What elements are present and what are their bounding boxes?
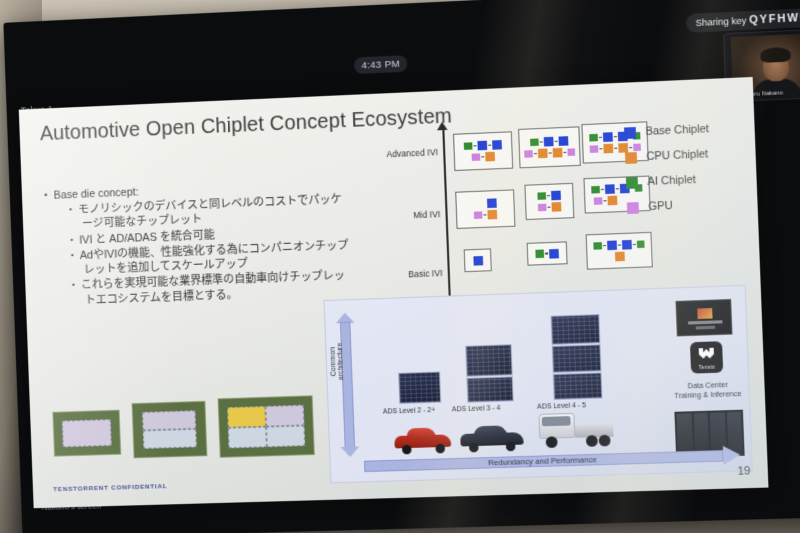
- legend-item: GPU: [627, 197, 747, 214]
- matrix-cell: [455, 189, 515, 229]
- cpu-chiplet-icon: [614, 252, 624, 262]
- die-block: [143, 429, 197, 449]
- chip-text-line: [696, 326, 715, 329]
- car-red-icon: [390, 425, 456, 454]
- chiplet-diagram: [474, 198, 497, 220]
- sharing-key: Sharing key QYFHWD: [686, 8, 800, 33]
- matrix-cell: [518, 126, 581, 168]
- participant-hair: [760, 47, 791, 63]
- die-block: [265, 405, 304, 427]
- cpu-chiplet-icon: [551, 202, 561, 212]
- ai-chiplet-icon: [536, 250, 544, 258]
- die-image-level4-b: [552, 344, 602, 373]
- arrow-head-down-icon: [340, 446, 359, 457]
- die-image-level4-a: [551, 314, 601, 345]
- tenstorrent-logo: Tenstx: [690, 341, 723, 373]
- interconnect-icon: [598, 137, 601, 139]
- interconnect-icon: [603, 200, 606, 202]
- ads-scaling-diagram: Common architecture ADS Level 2 - 2+ ADS…: [323, 285, 752, 484]
- chiplet-diagram: [464, 140, 502, 162]
- chiplet-row: [530, 136, 568, 147]
- die-block: [266, 425, 305, 447]
- interconnect-icon: [563, 152, 566, 154]
- interconnect-icon: [539, 141, 542, 143]
- bullet-list: Base die concept: モノリシックのデバイスと同レベルのコストでパ…: [44, 178, 351, 309]
- base-chiplet-icon: [602, 132, 612, 142]
- die-image-level3-b: [466, 376, 513, 402]
- package-figures: [52, 404, 54, 465]
- gpu-chiplet-icon: [524, 150, 532, 158]
- matrix-cell: [464, 248, 492, 272]
- chart-legend: Base Chiplet CPU Chiplet AI Chiplet GPU: [624, 121, 748, 226]
- die-block: [142, 410, 196, 430]
- base-chiplet-icon: [492, 140, 502, 150]
- sharing-key-label: Sharing key: [695, 15, 746, 28]
- die-block-highlight: [227, 406, 266, 428]
- legend-label: GPU: [648, 200, 673, 213]
- interconnect-icon: [545, 253, 548, 255]
- ads-column-label: ADS Level 3 - 4: [452, 405, 501, 414]
- interconnect-icon: [548, 152, 551, 154]
- ads-column-label: ADS Level 2 - 2+: [383, 407, 436, 416]
- gpu-chiplet-icon: [472, 153, 480, 161]
- gpu-chiplet-icon: [567, 148, 575, 156]
- legend-label: Base Chiplet: [645, 123, 709, 138]
- legend-item: AI Chiplet: [626, 172, 746, 189]
- gpu-chiplet-icon: [538, 203, 546, 211]
- interconnect-icon: [481, 156, 484, 158]
- interconnect-icon: [614, 147, 617, 149]
- truck-icon: [536, 407, 618, 451]
- legend-label: AI Chiplet: [647, 174, 696, 188]
- interconnect-icon: [602, 245, 605, 247]
- y-axis: [442, 128, 450, 306]
- chiplet-row: [614, 252, 624, 262]
- interconnect-icon: [533, 153, 536, 155]
- datacenter-chip-image: [675, 299, 732, 336]
- confidential-footer: TENSTORRENT CONFIDENTIAL: [53, 483, 168, 493]
- cpu-chiplet-icon: [487, 210, 497, 220]
- base-chiplet-icon: [551, 191, 561, 201]
- base-chiplet-swatch-icon: [624, 127, 636, 139]
- base-chiplet-icon: [473, 255, 483, 265]
- clock: 4:43 PM: [354, 55, 408, 74]
- interconnect-icon: [547, 195, 550, 197]
- meeting-topbar: 4:43 PM Sharing key QYFHWD: [3, 0, 800, 86]
- chiplet-diagram: [473, 255, 483, 265]
- chiplet-row: [524, 147, 575, 158]
- interconnect-icon: [547, 206, 550, 208]
- ai-chiplet-swatch-icon: [626, 177, 638, 189]
- matrix-cell: [524, 183, 574, 220]
- ai-chiplet-icon: [591, 186, 599, 194]
- base-chiplet-icon: [486, 198, 496, 208]
- chiplet-diagram: [538, 191, 562, 213]
- base-chiplet-icon: [621, 240, 631, 250]
- interconnect-icon: [613, 136, 616, 138]
- die-block: [228, 427, 267, 449]
- matrix-cell: [453, 131, 513, 171]
- interconnect-icon: [473, 145, 476, 147]
- package-quad-die: [218, 395, 315, 458]
- slide-page-number: 19: [737, 465, 751, 478]
- interconnect-icon: [483, 214, 486, 216]
- interconnect-icon: [617, 244, 620, 246]
- y-tick-label: Basic IVI: [367, 268, 443, 281]
- cpu-chiplet-icon: [537, 149, 547, 159]
- die-block: [62, 419, 112, 447]
- interconnect-icon: [599, 148, 602, 150]
- base-chiplet-icon: [543, 137, 553, 147]
- chiplet-diagram: [593, 239, 645, 262]
- ai-chiplet-icon: [589, 134, 597, 142]
- ai-chiplet-icon: [464, 142, 472, 150]
- ai-chiplet-icon: [530, 138, 538, 146]
- slide-content: Automotive Open Chiplet Concept Ecosyste…: [19, 77, 769, 508]
- chiplet-row: [536, 248, 559, 258]
- cpu-chiplet-icon: [603, 144, 613, 154]
- y-axis-arrow-icon: [437, 122, 448, 131]
- cpu-chiplet-icon: [552, 148, 562, 158]
- screen: 4:43 PM Sharing key QYFHWD Tokyo-1 Nakan…: [3, 0, 800, 533]
- chiplet-row: [472, 152, 495, 162]
- gpu-chiplet-icon: [590, 145, 598, 153]
- sharing-key-code: QYFHWD: [749, 11, 800, 26]
- base-chiplet-icon: [604, 184, 614, 194]
- display-panel: 4:43 PM Sharing key QYFHWD Tokyo-1 Nakan…: [0, 0, 800, 533]
- chiplet-row: [538, 202, 561, 212]
- ai-chiplet-icon: [593, 242, 601, 250]
- interconnect-icon: [600, 189, 603, 191]
- cpu-chiplet-icon: [485, 152, 495, 162]
- chiplet-row: [593, 239, 644, 250]
- package-single-die: [52, 410, 121, 457]
- chiplet-diagram: [524, 136, 576, 159]
- interconnect-icon: [488, 144, 491, 146]
- gpu-chiplet-icon: [474, 211, 482, 219]
- cpu-chiplet-icon: [607, 196, 617, 206]
- car-dark-icon: [457, 423, 527, 452]
- legend-item: CPU Chiplet: [625, 146, 745, 164]
- base-chiplet-icon: [477, 141, 487, 151]
- matrix-cell: [586, 232, 653, 270]
- package-dual-die: [132, 401, 208, 459]
- chip-text-line: [688, 320, 722, 324]
- room-scene: 4:43 PM Sharing key QYFHWD Tokyo-1 Nakan…: [0, 0, 800, 533]
- chiplet-row: [538, 191, 561, 201]
- gpu-swatch-icon: [627, 202, 639, 214]
- legend-label: CPU Chiplet: [646, 148, 708, 163]
- ai-chiplet-icon: [636, 240, 644, 248]
- y-tick-label: Mid IVI: [365, 209, 441, 222]
- matrix-cell: [527, 241, 568, 265]
- ai-chiplet-icon: [538, 192, 546, 200]
- tenstorrent-logo-text: Tenstx: [691, 364, 723, 371]
- base-chiplet-icon: [558, 136, 568, 146]
- chiplet-row: [464, 140, 502, 151]
- gpu-chiplet-icon: [594, 197, 602, 205]
- die-image-level4-c: [553, 372, 603, 400]
- y-tick-label: Advanced IVI: [363, 147, 439, 160]
- base-chiplet-icon: [549, 248, 559, 258]
- interconnect-icon: [554, 140, 557, 142]
- die-image-level3-a: [465, 344, 512, 377]
- chiplet-row: [474, 198, 496, 208]
- base-chiplet-icon: [607, 240, 617, 250]
- interconnect-icon: [615, 188, 618, 190]
- datacenter-label: Data Center Training & Inference: [643, 379, 768, 403]
- redundancy-performance-label: Redundancy and Performance: [364, 451, 723, 471]
- tenstorrent-mark-icon: [698, 347, 716, 360]
- chiplet-row: [474, 210, 497, 220]
- chiplet-diagram: [536, 248, 559, 258]
- arrow-head-right-icon: [723, 445, 741, 464]
- chiplet-row: [473, 255, 483, 265]
- interconnect-icon: [632, 244, 635, 246]
- common-architecture-label: Common architecture: [329, 329, 346, 393]
- cpu-chiplet-swatch-icon: [625, 152, 637, 164]
- chip-die-icon: [697, 308, 712, 319]
- die-image-level2: [398, 371, 441, 403]
